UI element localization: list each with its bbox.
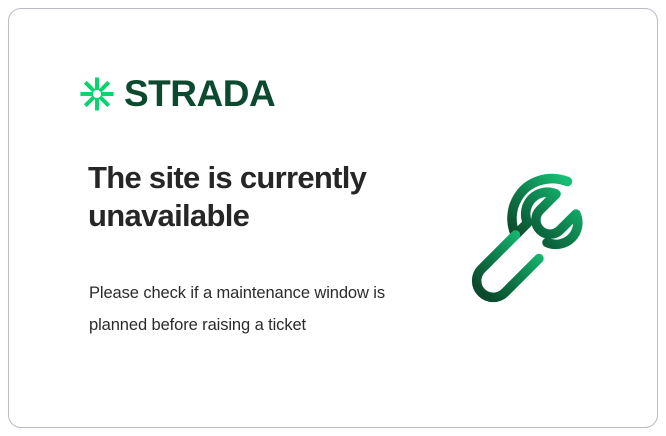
brand-lockup: STRADA <box>79 75 275 112</box>
page-description: Please check if a maintenance window is … <box>89 277 389 341</box>
status-card-content: STRADA The site is currently unavailable… <box>9 9 657 427</box>
page-title: The site is currently unavailable <box>88 159 418 235</box>
status-card: STRADA The site is currently unavailable… <box>8 8 658 428</box>
brand-name: STRADA <box>124 75 275 112</box>
error-page: STRADA The site is currently unavailable… <box>0 0 666 436</box>
strada-asterisk-icon <box>79 76 115 112</box>
wrench-icon <box>461 161 621 321</box>
